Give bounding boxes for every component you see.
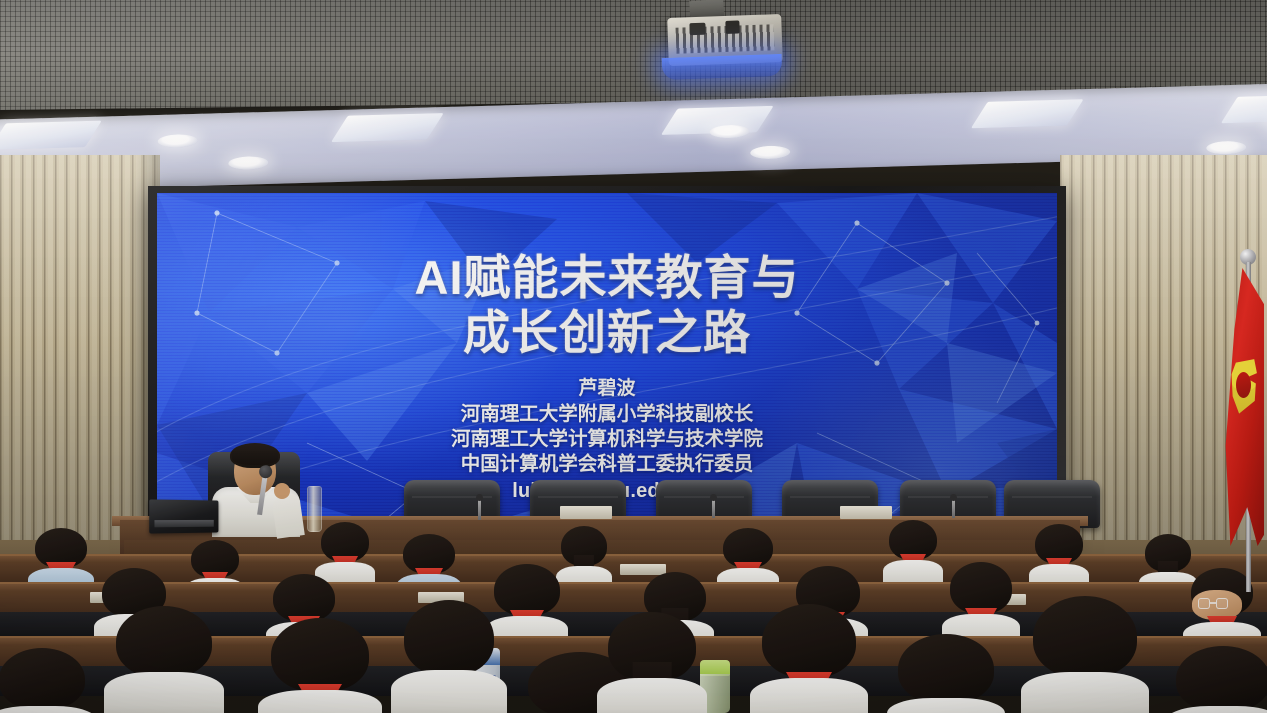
student-head [273, 574, 335, 622]
glasses-lens-right [1216, 598, 1228, 609]
student-uniform [750, 678, 868, 713]
projector-lens-glow [662, 54, 783, 80]
student-head [0, 648, 85, 710]
student [600, 612, 704, 713]
student-head [271, 618, 369, 692]
student [754, 604, 864, 713]
student-uniform [0, 706, 98, 713]
light-slot-icon [971, 99, 1084, 128]
student-head [762, 604, 856, 678]
student-head [494, 564, 560, 616]
desk-microphone [952, 498, 955, 518]
desk-microphone [478, 498, 481, 520]
speaker-hair [230, 443, 280, 468]
student-uniform [1021, 672, 1149, 713]
student-head [561, 526, 607, 566]
student-head [116, 606, 212, 678]
desk-microphone [712, 498, 715, 518]
student-uniform [104, 672, 224, 713]
student [890, 634, 1002, 713]
student-head [608, 612, 696, 682]
name-card [560, 506, 612, 519]
student-uniform [887, 698, 1005, 713]
laptop [150, 500, 220, 533]
speaker-hand [274, 483, 290, 499]
wall-panel-left [0, 155, 160, 575]
student [108, 606, 220, 713]
flag-emblem-inner [1236, 372, 1251, 398]
light-slot-icon [331, 113, 444, 142]
speaker-arm [271, 493, 305, 538]
student-head [1176, 646, 1267, 712]
student [944, 562, 1018, 636]
projector-connector [725, 20, 739, 33]
laptop-screen [149, 499, 218, 533]
glasses-lens-left [1198, 598, 1210, 609]
photo-scene: AI赋能未来教育与 成长创新之路 芦碧波 河南理工大学附属小学科技副校长 河南理… [0, 0, 1267, 713]
student [1168, 646, 1267, 713]
projector-connector [689, 23, 705, 36]
student-head [404, 600, 494, 676]
student-uniform [1165, 706, 1267, 713]
student [884, 520, 942, 580]
student-uniform [391, 670, 507, 713]
glasses-icon [1198, 598, 1228, 609]
student [396, 600, 502, 713]
student [0, 648, 94, 713]
student [718, 528, 778, 586]
student-uniform [258, 690, 382, 713]
name-card [840, 506, 892, 519]
student [1030, 524, 1088, 582]
student [316, 522, 374, 578]
student-uniform [597, 678, 707, 713]
student-head [1145, 534, 1191, 572]
student [30, 528, 92, 586]
student-head [1033, 596, 1137, 678]
student-head [898, 634, 994, 704]
student [1024, 596, 1146, 713]
student [262, 618, 378, 713]
student-head [950, 562, 1012, 614]
